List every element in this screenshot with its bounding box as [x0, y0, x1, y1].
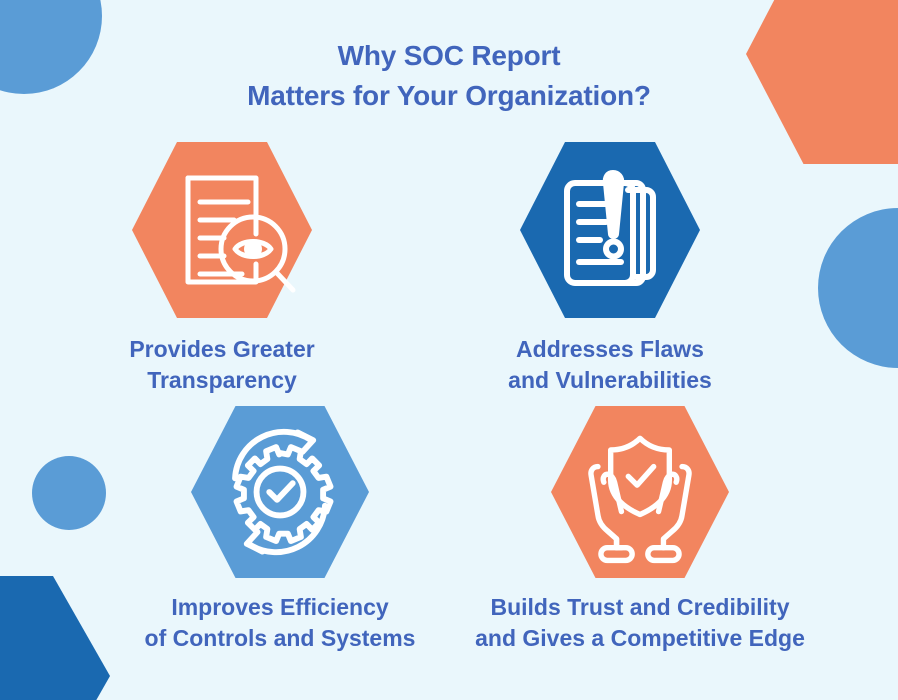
hexagon-badge-transparency	[132, 142, 312, 318]
document-magnifier-eye-icon	[132, 142, 312, 318]
benefit-caption: Improves Efficiency of Controls and Syst…	[100, 592, 460, 654]
gear-check-refresh-icon	[191, 406, 369, 578]
infographic-canvas: Why SOC Report Matters for Your Organiza…	[0, 0, 898, 700]
documents-exclamation-icon	[520, 142, 700, 318]
hexagon-badge-efficiency	[191, 406, 369, 578]
page-title: Why SOC Report Matters for Your Organiza…	[0, 36, 898, 116]
bottom-left-hexagon-decoration	[0, 576, 110, 700]
benefit-item-provides-greater-transparency: Provides Greater Transparency	[72, 142, 372, 396]
hexagon-badge-flaws	[520, 142, 700, 318]
benefit-item-improves-efficiency: Improves Efficiency of Controls and Syst…	[130, 406, 430, 654]
benefit-item-builds-trust-and-credibility: Builds Trust and Credibility and Gives a…	[490, 406, 790, 654]
benefit-caption: Provides Greater Transparency	[72, 334, 372, 396]
benefit-caption: Builds Trust and Credibility and Gives a…	[430, 592, 850, 654]
hands-shield-check-icon	[551, 406, 729, 578]
bottom-left-circle-decoration	[32, 456, 106, 530]
right-circle-decoration	[818, 208, 898, 368]
page-title-line-2: Matters for Your Organization?	[0, 76, 898, 116]
page-title-line-1: Why SOC Report	[0, 36, 898, 76]
benefit-item-addresses-flaws-and-vulnerabilities: Addresses Flaws and Vulnerabilities	[460, 142, 760, 396]
benefit-caption: Addresses Flaws and Vulnerabilities	[450, 334, 770, 396]
hexagon-badge-trust	[551, 406, 729, 578]
